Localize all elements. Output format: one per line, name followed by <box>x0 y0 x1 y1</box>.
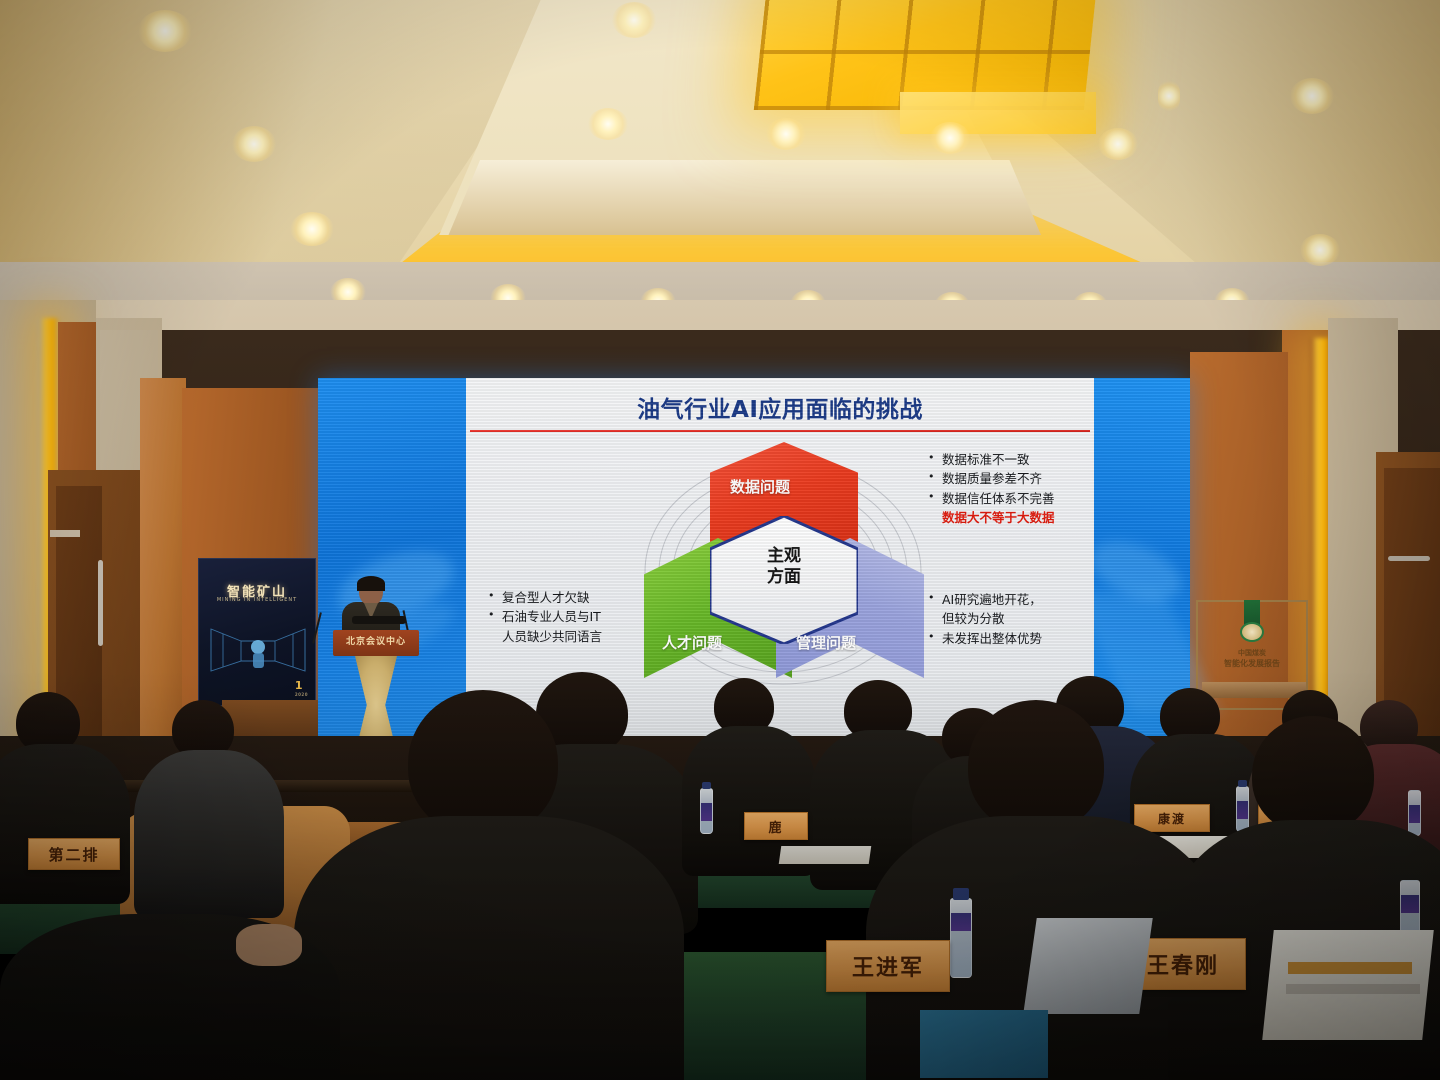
chandelier-step-3 <box>900 92 1096 134</box>
bullets-talent-problems: 复合型人才欠缺 石油专业人员与IT 人员缺少共同语言 <box>488 588 602 646</box>
downlight <box>290 212 334 246</box>
door-handle-right <box>1388 556 1430 561</box>
name-card-row-label: 第二排 <box>28 838 120 870</box>
audience-member-foreground <box>320 690 650 1080</box>
person-head <box>1252 716 1374 834</box>
laptop <box>1023 918 1152 1014</box>
bullet-item: 数据信任体系不完善 <box>928 489 1055 508</box>
person-torso <box>0 744 130 904</box>
pendant-lamp <box>1158 80 1180 112</box>
hex-center-label: 主观 方面 <box>710 546 858 589</box>
bullet-item: 数据标准不一致 <box>928 450 1055 469</box>
downlight <box>232 126 276 162</box>
downlight <box>1300 234 1340 266</box>
person-head <box>968 700 1104 832</box>
podium-venue-text: 北京会议中心 <box>333 634 419 647</box>
bullet-item: 未发挥出整体优势 <box>928 629 1042 648</box>
downlight <box>1290 78 1334 114</box>
laptop-on-podium <box>352 616 406 624</box>
hex-label-data: 数据问题 <box>730 476 790 497</box>
poster-left-subtitle: MINING IN INTELLIGENT <box>199 597 315 603</box>
issue-caption: 2020 <box>295 692 308 697</box>
document-highlight-strip <box>1288 962 1412 974</box>
poster-left-issue: 1 2020 <box>295 679 308 697</box>
speaker-hair <box>357 576 385 591</box>
person-torso <box>294 816 684 1080</box>
hex-label-talent: 人才问题 <box>662 632 722 653</box>
issue-number: 1 <box>295 679 303 692</box>
hex-label-management: 管理问题 <box>796 632 856 653</box>
downlight <box>766 118 806 150</box>
document-paper <box>779 846 872 864</box>
podium-top: 北京会议中心 <box>333 630 419 656</box>
person-head <box>408 690 558 836</box>
door-handle <box>98 560 103 646</box>
person-hand <box>236 924 302 966</box>
water-bottle <box>700 788 713 834</box>
conference-booklet <box>920 1010 1048 1078</box>
bullet-emphasis-red: 数据大不等于大数据 <box>928 508 1055 527</box>
slide-title: 油气行业AI应用面临的挑战 <box>466 390 1094 424</box>
hexagon-diagram: 数据问题 人才问题 管理问题 主观 方面 <box>644 442 922 694</box>
downlight <box>588 108 628 140</box>
bullet-item-continuation: 但较为分散 <box>928 609 1042 628</box>
name-card: 鹿 <box>744 812 808 840</box>
poster-intelligent-mine: 智能矿山 MINING IN INTELLIGENT 1 2020 <box>198 558 316 706</box>
bottle-cap <box>953 888 969 900</box>
bullet-item: AI研究遍地开花， <box>928 590 1042 609</box>
hex-center-line-2: 方面 <box>767 567 801 587</box>
bullets-data-problems: 数据标准不一致 数据质量参差不齐 数据信任体系不完善 数据大不等于大数据 <box>928 450 1055 528</box>
bullet-item: 数据质量参差不齐 <box>928 469 1055 488</box>
hex-center-line-1: 主观 <box>767 546 801 566</box>
poster-right-line2: 智能化发展报告 <box>1198 658 1306 669</box>
water-bottle <box>950 898 972 978</box>
bullet-item: 复合型人才欠缺 <box>488 588 602 607</box>
poster-right-line1: 中国煤炭 <box>1198 648 1306 658</box>
name-card: 王进军 <box>826 940 950 992</box>
bottle-cap <box>702 782 711 789</box>
door-sign <box>50 530 80 537</box>
conference-photo: 油气行业AI应用面临的挑战 <box>0 0 1440 1080</box>
bullet-item-continuation: 人员缺少共同语言 <box>488 627 602 646</box>
wall-column-left-2 <box>140 378 186 750</box>
title-underline <box>470 430 1090 432</box>
seal-emblem-icon <box>1240 622 1264 642</box>
bullet-item: 石油专业人员与IT <box>488 607 602 626</box>
tunnel-graphic-icon <box>209 621 307 679</box>
bullets-management-problems: AI研究遍地开花， 但较为分散 未发挥出整体优势 <box>928 590 1042 648</box>
audience-member-foreground <box>0 890 330 1080</box>
document-line <box>1286 984 1420 994</box>
downlight <box>612 2 656 38</box>
audience-member <box>150 700 278 900</box>
downlight <box>930 122 970 154</box>
downlight <box>1098 128 1138 160</box>
downlight <box>138 10 192 52</box>
